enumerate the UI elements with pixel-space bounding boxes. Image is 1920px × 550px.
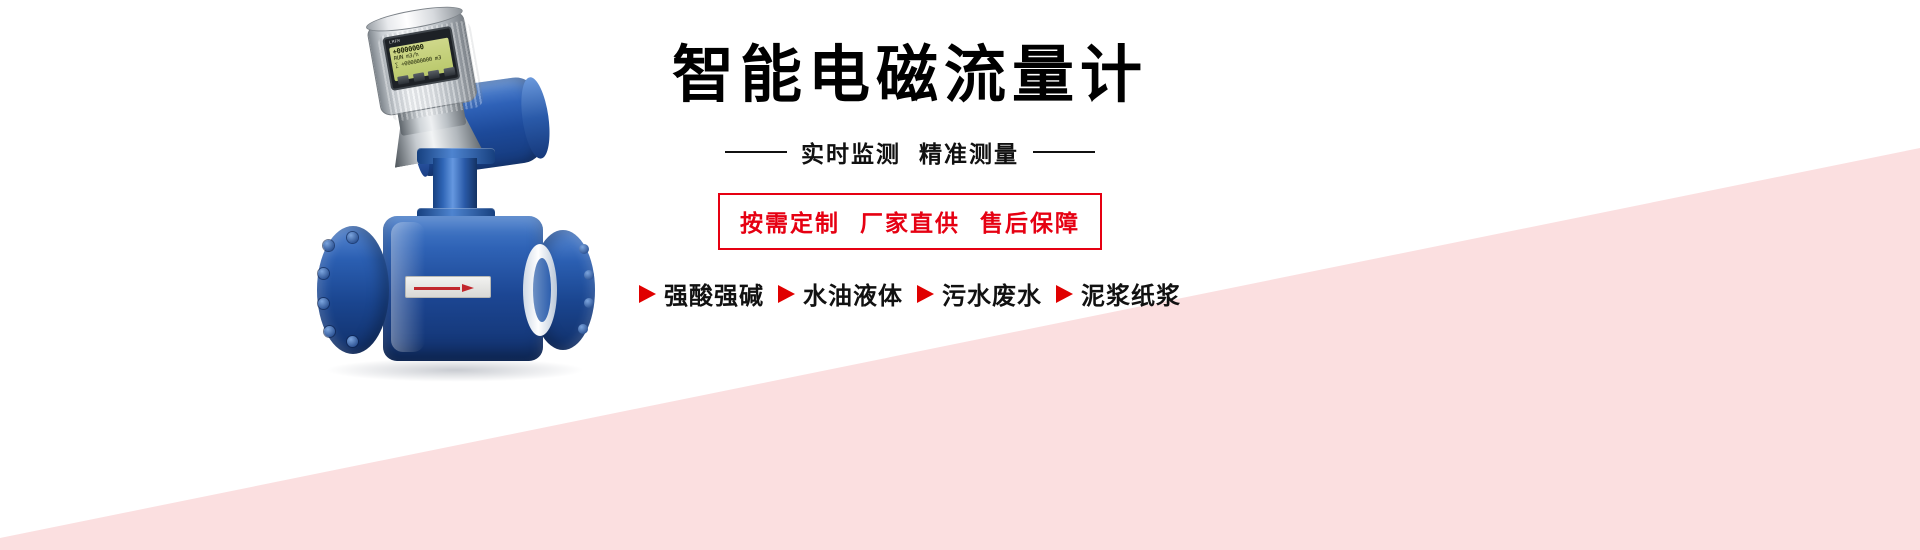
body-nameplate — [405, 276, 491, 298]
bolt — [578, 324, 588, 334]
bolt — [324, 326, 335, 337]
feature-label: 泥浆纸浆 — [1081, 276, 1181, 311]
selling-points-badge: 按需定制厂家直供售后保障 — [718, 193, 1102, 250]
bolt — [579, 244, 589, 254]
triangle-arrow-icon — [917, 285, 934, 303]
badge-item-3: 售后保障 — [980, 210, 1080, 236]
subtitle-left: 实时监测 — [801, 141, 901, 167]
banner-title: 智能电磁流量计 — [600, 40, 1220, 111]
feature-item-4: 泥浆纸浆 — [1056, 276, 1181, 311]
feature-item-1: 强酸强碱 — [639, 276, 764, 311]
bolt — [584, 298, 594, 308]
feature-label: 强酸强碱 — [664, 276, 764, 311]
feature-item-3: 污水废水 — [917, 276, 1042, 311]
pipe-bore — [533, 258, 551, 322]
banner-subtitle-row: 实时监测精准测量 — [600, 135, 1220, 169]
bolt — [318, 268, 329, 279]
banner-subtitle: 实时监测精准测量 — [801, 135, 1019, 169]
banner-content: 智能电磁流量计 实时监测精准测量 按需定制厂家直供售后保障 强酸强碱 水油液体 … — [600, 40, 1220, 311]
product-banner: LMFM +0000000 RUN m3/h ∑ +000000000 m3 — [0, 0, 1920, 550]
key-3 — [428, 70, 440, 80]
key-2 — [413, 72, 425, 82]
feature-list: 强酸强碱 水油液体 污水废水 泥浆纸浆 — [600, 276, 1220, 311]
triangle-arrow-icon — [778, 285, 795, 303]
rule-right — [1033, 151, 1095, 153]
bolt — [347, 336, 358, 347]
feature-label: 污水废水 — [942, 276, 1042, 311]
flow-direction-arrow-icon — [414, 285, 474, 291]
bolt — [347, 232, 358, 243]
badge-wrapper: 按需定制厂家直供售后保障 — [600, 169, 1220, 250]
key-4 — [443, 67, 455, 77]
bolt — [323, 240, 334, 251]
bolt — [584, 270, 594, 280]
badge-item-1: 按需定制 — [740, 210, 840, 236]
flange-left — [317, 226, 389, 354]
rule-left — [725, 151, 787, 153]
triangle-arrow-icon — [1056, 285, 1073, 303]
feature-item-2: 水油液体 — [778, 276, 903, 311]
display-brand: LMFM — [389, 38, 401, 45]
feature-label: 水油液体 — [803, 276, 903, 311]
product-shadow — [325, 358, 585, 382]
subtitle-right: 精准测量 — [919, 141, 1019, 167]
bolt — [318, 298, 329, 309]
key-1 — [397, 75, 409, 85]
converter-end-cap — [517, 76, 554, 161]
badge-item-2: 厂家直供 — [860, 210, 960, 236]
transmitter-head: LMFM +0000000 RUN m3/h ∑ +000000000 m3 — [359, 1, 493, 163]
triangle-arrow-icon — [639, 285, 656, 303]
